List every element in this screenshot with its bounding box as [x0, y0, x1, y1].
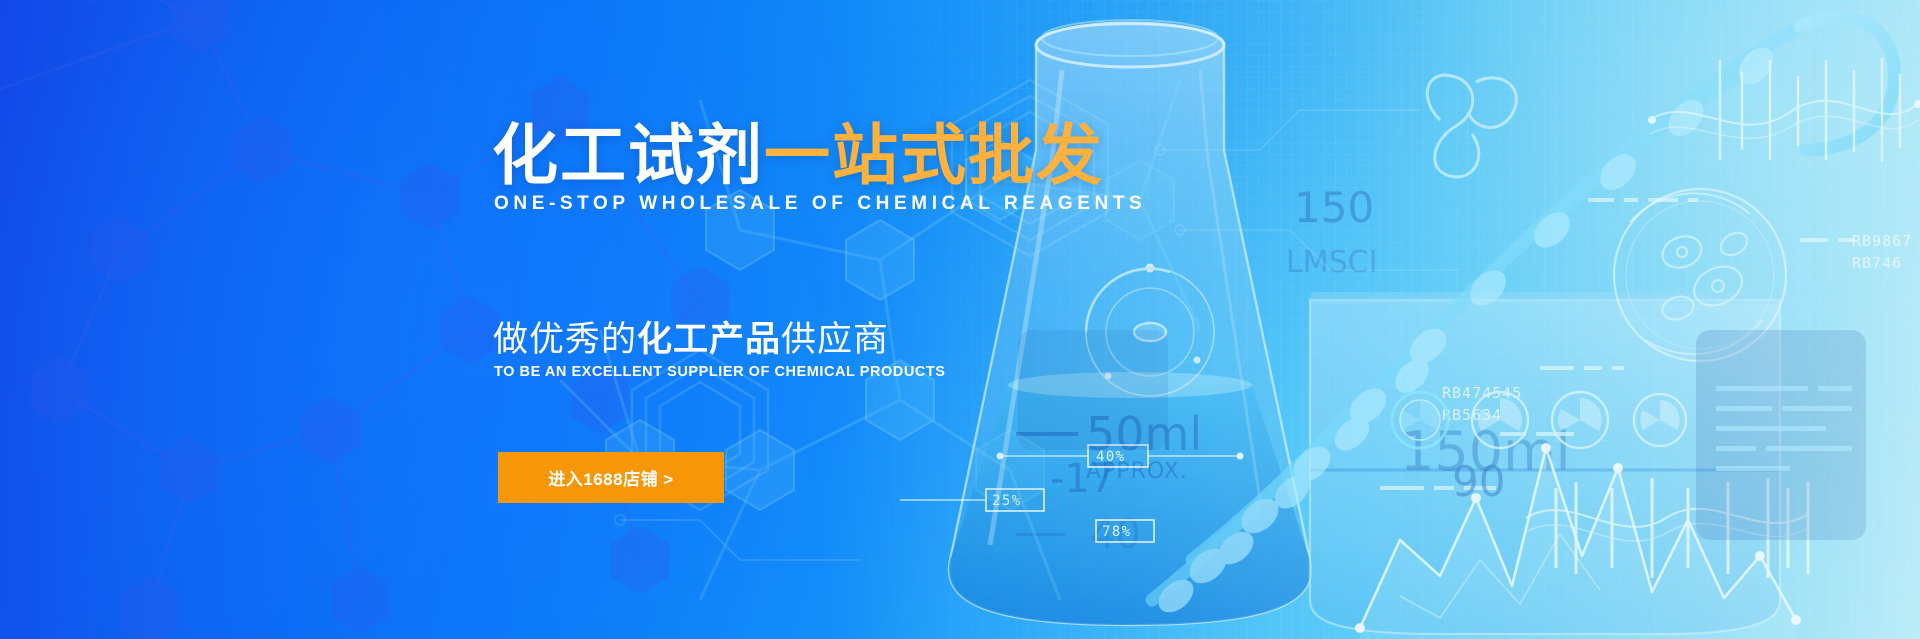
- headline-english-subtitle: ONE-STOP WHOLESALE OF CHEMICAL REAGENTS: [494, 193, 1146, 215]
- headline-white-text: 化工试剂: [492, 118, 764, 192]
- sub-headline-prefix: 做优秀的: [493, 320, 637, 359]
- hero-banner: 50ml APPROX. 40 150ml: [0, 0, 1920, 639]
- sub-headline-english: TO BE AN EXCELLENT SUPPLIER OF CHEMICAL …: [494, 364, 946, 380]
- sub-headline: 做优秀的化工产品供应商: [493, 311, 889, 362]
- enter-1688-shop-button[interactable]: 进入1688店铺 >: [498, 452, 724, 503]
- page-title: 化工试剂一站式批发: [492, 122, 1104, 188]
- hero-content: 化工试剂一站式批发 ONE-STOP WHOLESALE OF CHEMICAL…: [0, 0, 1920, 639]
- headline-orange-text: 一站式批发: [764, 118, 1104, 192]
- sub-headline-suffix: 供应商: [781, 320, 889, 359]
- sub-headline-emphasis: 化工产品: [637, 320, 781, 359]
